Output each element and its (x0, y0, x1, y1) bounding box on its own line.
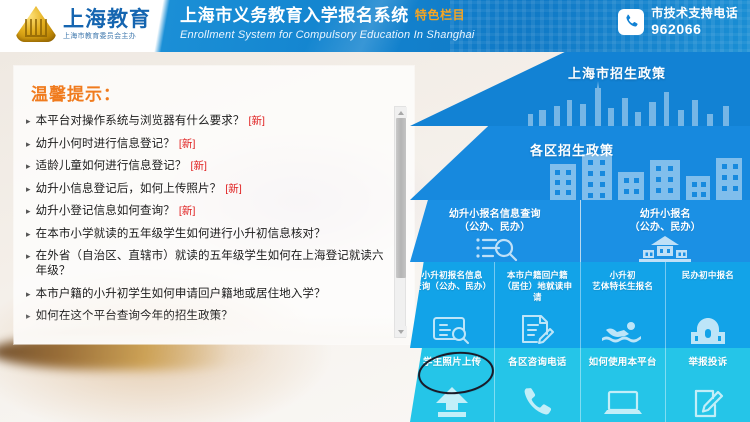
new-tag: [新] (179, 205, 196, 217)
document-search-icon (410, 315, 494, 345)
bullet-icon: ▸ (26, 182, 31, 197)
tile-youshengxiao-signup-line1: 幼升小报名 (630, 208, 701, 221)
tile-report-complaint-label: 举报投诉 (685, 357, 730, 369)
tile-private-middle-school-line1: 民办初中报名 (682, 270, 734, 281)
swimmer-icon (581, 319, 665, 345)
shanghai-education-emblem-icon (16, 5, 56, 43)
bottom-tile-row: 学生照片上传 各区咨询电话 如何使用本平台 (410, 348, 750, 422)
tile-arts-sports-talent-line1: 小升初 (592, 270, 653, 281)
new-tag: [新] (248, 115, 265, 127)
tile-report-complaint[interactable]: 举报投诉 (666, 348, 750, 422)
tile-household-application-line2: （居住）地就读申请 (498, 281, 576, 303)
scroll-up-arrow-icon[interactable] (395, 107, 407, 118)
faq-item-text: 本平台对操作系统与浏览器有什么要求？[新] (36, 114, 394, 129)
faq-item-text: 在外省（自治区、直辖市）就读的五年级学生如何在上海登记就读六年级？ (36, 249, 394, 279)
buildings-icon (546, 150, 746, 200)
panel-scrollbar[interactable] (394, 106, 406, 338)
tile-xiaoshengchu-query-line2: 查询（公办、民办） (413, 281, 491, 292)
phone-icon (618, 9, 644, 35)
new-tag: [新] (190, 160, 207, 172)
bullet-icon: ▸ (26, 249, 31, 264)
new-tag: [新] (225, 183, 242, 195)
faq-item-text: 幼升小登记信息如何查询？[新] (36, 204, 394, 219)
faq-item[interactable]: ▸在外省（自治区、直辖市）就读的五年级学生如何在上海登记就读六年级？ (26, 249, 394, 279)
page-title-en: Enrollment System for Compulsory Educati… (180, 28, 475, 42)
bullet-icon: ▸ (26, 332, 31, 333)
faq-item[interactable]: ▸本平台对操作系统与浏览器有什么要求？[新] (26, 114, 394, 129)
tile-how-to-use[interactable]: 如何使用本平台 (581, 348, 666, 422)
logo-title: 上海教育 (63, 9, 151, 30)
tile-youshengxiao-signup-line2: （公办、民办） (630, 221, 701, 234)
new-tag: [新] (179, 138, 196, 150)
scrollbar-thumb[interactable] (396, 118, 406, 278)
tile-household-application[interactable]: 本市户籍回户籍 （居住）地就读申请 (495, 262, 580, 348)
bullet-icon: ▸ (26, 287, 31, 302)
faq-item-text: 幼升小信息登记后，如何上传照片？[新] (36, 182, 394, 197)
primary-tile-row: 幼升小报名信息查询 （公办、民办） 幼升小报名 （公办、民办） (410, 200, 750, 262)
faq-list[interactable]: ▸本平台对操作系统与浏览器有什么要求？[新]▸幼升小何时进行信息登记？[新]▸适… (26, 114, 394, 332)
faq-item[interactable]: ▸如何在这个平台查询今年的招生政策？ (26, 309, 394, 324)
faq-item[interactable]: ▸在本市小学就读的五年级学生如何进行小升初信息核对？ (26, 227, 394, 242)
faq-item-text: 幼升小何时进行信息登记？[新] (36, 137, 394, 152)
tile-student-photo-upload[interactable]: 学生照片上传 (410, 348, 495, 422)
policy-card-city[interactable]: 上海市招生政策 (410, 52, 750, 126)
faq-item-text: 在本市小学就读的五年级学生如何进行小升初信息核对？ (36, 227, 394, 242)
tile-student-photo-upload-label: 学生照片上传 (420, 357, 484, 369)
notice-panel-title: 温馨提示： (31, 80, 121, 105)
school-building-icon (581, 236, 750, 262)
tile-arts-sports-talent-line2: 艺体特长生报名 (592, 281, 653, 292)
phone-handset-icon (495, 385, 579, 419)
faq-item[interactable]: ▸适龄儿童如何进行信息登记？[新] (26, 159, 394, 174)
phone-number: 962066 (651, 21, 738, 37)
bullet-icon: ▸ (26, 204, 31, 219)
header-title-block: 上海市义务教育入学报名系统特色栏目 Enrollment System for … (180, 5, 475, 42)
phone-label: 市技术支持电话 (651, 7, 738, 21)
feature-badge: 特色栏目 (415, 5, 465, 25)
faq-item[interactable]: ▸幼升小信息登记后，如何上传照片？[新] (26, 182, 394, 197)
notice-panel: 温馨提示： ▸本平台对操作系统与浏览器有什么要求？[新]▸幼升小何时进行信息登记… (14, 66, 414, 344)
page-title: 上海市义务教育入学报名系统 (180, 6, 409, 25)
faq-item-text: 如何在这个平台查询今年的招生政策？ (36, 309, 394, 324)
support-phone: 市技术支持电话 962066 (618, 7, 738, 37)
laptop-icon (581, 389, 665, 419)
faq-item-text: 本市户籍的小升初学生如何申请回户籍地或居住地入学？ (36, 287, 394, 302)
tile-youshengxiao-query-line2: （公办、民办） (449, 221, 541, 234)
faq-item[interactable]: ▸幼升小何时进行信息登记？[新] (26, 137, 394, 152)
tile-youshengxiao-query[interactable]: 幼升小报名信息查询 （公办、民办） (410, 200, 581, 262)
upload-icon (410, 385, 494, 419)
bullet-icon: ▸ (26, 227, 31, 242)
list-search-icon (410, 234, 580, 262)
tile-private-middle-school[interactable]: 民办初中报名 (666, 262, 750, 348)
edit-report-icon (666, 387, 750, 419)
tile-xiaoshengchu-query-line1: 小升初报名信息 (413, 270, 491, 281)
school-icon (666, 317, 750, 345)
logo-subtitle: 上海市教育委员会主办 (63, 33, 151, 40)
bullet-icon: ▸ (26, 137, 31, 152)
faq-item[interactable]: ▸“幼升小报名信息查询（公办、民办）”模块何时开通？ (26, 332, 394, 333)
bullet-icon: ▸ (26, 309, 31, 324)
faq-item-text: 适龄儿童如何进行信息登记？[新] (36, 159, 394, 174)
site-logo[interactable]: 上海教育 上海市教育委员会主办 (16, 5, 151, 43)
tile-household-application-line1: 本市户籍回户籍 (498, 270, 576, 281)
tile-district-hotlines-label: 各区咨询电话 (505, 357, 569, 369)
scroll-down-arrow-icon[interactable] (395, 326, 407, 337)
tile-xiaoshengchu-query[interactable]: 小升初报名信息 查询（公办、民办） (410, 262, 495, 348)
page-root: 上海教育 上海市教育委员会主办 上海市义务教育入学报名系统特色栏目 Enroll… (0, 0, 750, 422)
tile-how-to-use-label: 如何使用本平台 (586, 357, 660, 369)
faq-item[interactable]: ▸幼升小登记信息如何查询？[新] (26, 204, 394, 219)
tile-district-hotlines[interactable]: 各区咨询电话 (495, 348, 580, 422)
secondary-tile-row: 小升初报名信息 查询（公办、民办） 本市户籍回户籍 （居住）地就读申请 (410, 262, 750, 348)
bullet-icon: ▸ (26, 114, 31, 129)
right-nav-zone: 上海市招生政策 各区招生政策 (410, 52, 750, 422)
faq-item-text: “幼升小报名信息查询（公办、民办）”模块何时开通？ (36, 332, 394, 333)
tile-youshengxiao-query-line1: 幼升小报名信息查询 (449, 208, 541, 221)
tile-arts-sports-talent[interactable]: 小升初 艺体特长生报名 (581, 262, 666, 348)
policy-card-districts[interactable]: 各区招生政策 (410, 126, 750, 200)
faq-item[interactable]: ▸本市户籍的小升初学生如何申请回户籍地或居住地入学？ (26, 287, 394, 302)
bullet-icon: ▸ (26, 159, 31, 174)
city-skyline-icon (520, 80, 750, 126)
tile-youshengxiao-signup[interactable]: 幼升小报名 （公办、民办） (581, 200, 750, 262)
form-edit-icon (495, 313, 579, 345)
site-header: 上海教育 上海市教育委员会主办 上海市义务教育入学报名系统特色栏目 Enroll… (0, 0, 750, 52)
